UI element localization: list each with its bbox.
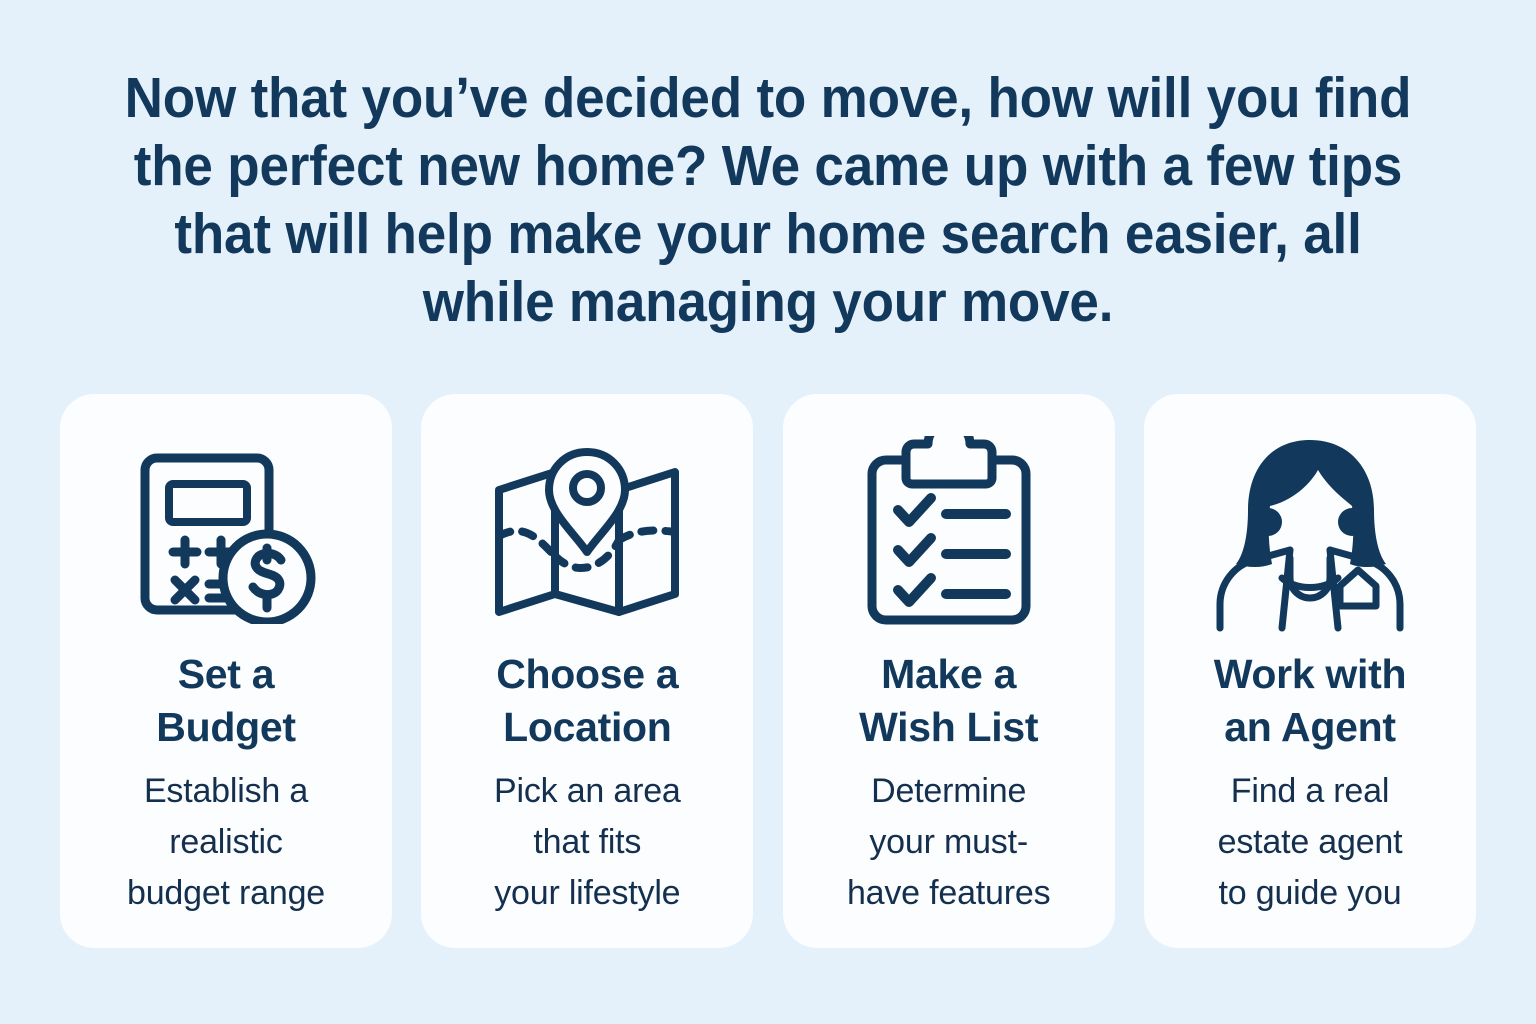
tip-card-work-with-an-agent[interactable]: Work with an Agent Find a real estate ag…	[1144, 394, 1476, 948]
tip-card-set-a-budget[interactable]: Set a Budget Establish a realistic budge…	[60, 394, 392, 948]
tip-card-title: Choose a Location	[496, 648, 678, 754]
folded-map-pin-icon	[487, 434, 687, 634]
page-title: Now that you’ve decided to move, how wil…	[117, 64, 1419, 336]
tip-card-title: Work with an Agent	[1214, 648, 1406, 754]
clipboard-checklist-icon	[849, 434, 1049, 634]
tip-card-title: Make a Wish List	[859, 648, 1038, 754]
tip-card-title: Set a Budget	[156, 648, 295, 754]
calculator-dollar-icon	[126, 434, 326, 634]
tip-card-choose-a-location[interactable]: Choose a Location Pick an area that fits…	[421, 394, 753, 948]
tip-card-description: Determine your must- have features	[847, 766, 1050, 919]
tip-card-description: Find a real estate agent to guide you	[1218, 766, 1403, 919]
tip-card-make-a-wish-list[interactable]: Make a Wish List Determine your must- ha…	[783, 394, 1115, 948]
tip-card-description: Establish a realistic budget range	[127, 766, 325, 919]
tip-card-description: Pick an area that fits your lifestyle	[494, 766, 681, 919]
real-estate-agent-icon	[1210, 434, 1410, 634]
tips-card-row: Set a Budget Establish a realistic budge…	[60, 394, 1476, 948]
